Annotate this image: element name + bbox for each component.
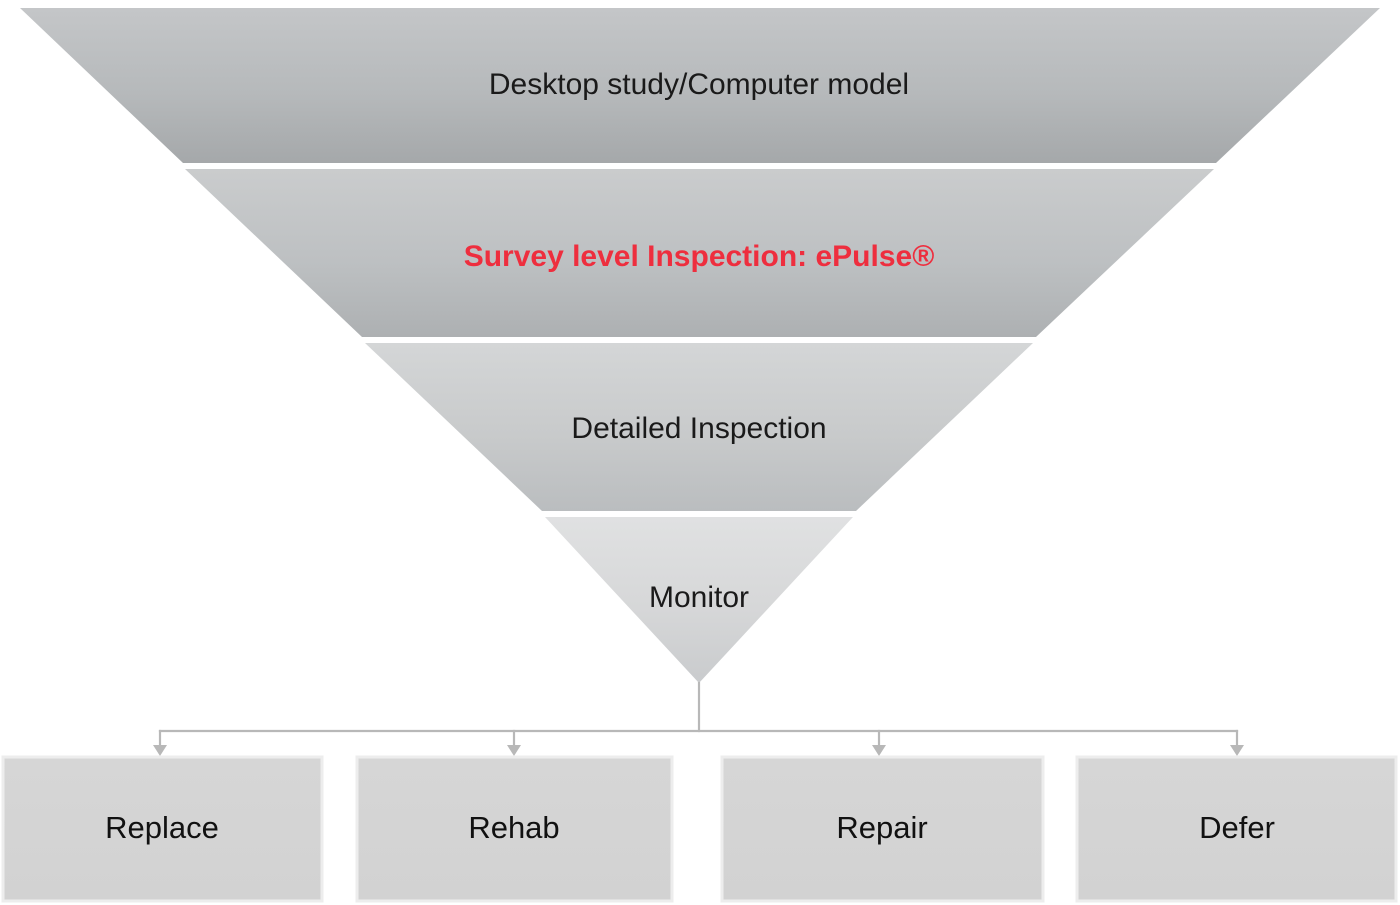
funnel-level-4[interactable]: Monitor [545,517,853,683]
outcome-box-rehab[interactable]: Rehab [357,757,672,901]
inspection-funnel-diagram: Desktop study/Computer model Survey leve… [0,0,1400,905]
outcome-box-defer[interactable]: Defer [1077,757,1396,901]
arrow-down-icon-rehab [507,745,521,756]
diagram-canvas: Desktop study/Computer model Survey leve… [0,0,1400,905]
outcome-box-repair-label: Repair [836,810,927,845]
funnel-level-3[interactable]: Detailed Inspection [365,343,1033,511]
funnel-level-3-label: Detailed Inspection [571,412,826,445]
funnel-level-2[interactable]: Survey level Inspection: ePulse® [185,169,1214,337]
outcome-box-replace-label: Replace [105,810,219,845]
arrow-down-icon-repair [872,745,886,756]
connector-group [160,683,1237,748]
outcome-box-repair[interactable]: Repair [722,757,1043,901]
funnel-divider-3 [542,511,856,517]
funnel-level-2-label: Survey level Inspection: ePulse® [464,240,935,273]
connector-arrowheads [153,745,1244,756]
funnel-level-1-label: Desktop study/Computer model [489,68,909,101]
funnel-divider-1 [183,163,1216,169]
outcome-boxes-group: Replace Rehab Repair Defer [3,757,1396,901]
funnel-level-4-label: Monitor [649,581,749,614]
funnel-level-1[interactable]: Desktop study/Computer model [20,8,1380,163]
outcome-box-defer-label: Defer [1199,810,1275,845]
funnel-group: Desktop study/Computer model Survey leve… [20,8,1380,683]
outcome-box-replace[interactable]: Replace [3,757,322,901]
arrow-down-icon-defer [1230,745,1244,756]
outcome-box-rehab-label: Rehab [468,810,559,845]
arrow-down-icon-replace [153,745,167,756]
funnel-divider-2 [362,337,1036,343]
